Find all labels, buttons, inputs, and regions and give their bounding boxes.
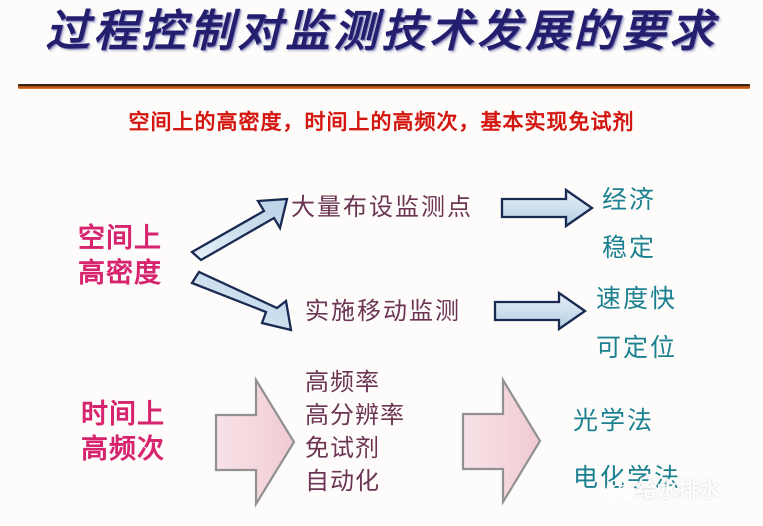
outcome-locatable: 可定位 <box>596 332 677 364</box>
heading-temporal: 时间上 高频次 <box>81 398 165 467</box>
watermark-text: 给水排水 <box>636 474 720 504</box>
list-item: 免试剂 <box>305 432 405 465</box>
title-divider <box>18 84 750 89</box>
heading-temporal-line2: 高频次 <box>81 433 165 468</box>
outcome-optical-method: 光学法 <box>573 405 654 437</box>
list-item: 自动化 <box>305 465 405 498</box>
slide-canvas: 过程控制对监测技术发展的要求 空间上的高密度，时间上的高频次，基本实现免试剂 <box>0 0 763 526</box>
node-temporal-requirements: 高频率 高分辨率 免试剂 自动化 <box>305 366 405 498</box>
arrow-horizontal-top <box>502 190 592 226</box>
heading-spatial-line2: 高密度 <box>78 257 162 292</box>
node-mobile-monitoring: 实施移动监测 <box>305 296 461 327</box>
heading-spatial: 空间上 高密度 <box>78 222 162 291</box>
node-mass-deployment: 大量布设监测点 <box>291 192 473 223</box>
outcome-fast: 速度快 <box>596 283 677 315</box>
wechat-icon <box>606 478 634 499</box>
list-item: 高分辨率 <box>305 399 405 432</box>
arrow-horizontal-middle <box>495 293 585 329</box>
arrow-block-pink-right <box>463 380 540 502</box>
heading-spatial-line1: 空间上 <box>78 222 162 257</box>
outcome-economical: 经济 <box>602 184 656 216</box>
heading-temporal-line1: 时间上 <box>81 398 165 433</box>
subtitle: 空间上的高密度，时间上的高频次，基本实现免试剂 <box>0 106 763 136</box>
outcome-stable: 稳定 <box>602 232 656 264</box>
arrow-diagonal-down <box>192 272 291 330</box>
arrow-block-pink-left <box>216 380 294 504</box>
list-item: 高频率 <box>305 366 405 399</box>
page-title: 过程控制对监测技术发展的要求 <box>0 4 763 59</box>
arrow-diagonal-up <box>192 199 287 260</box>
